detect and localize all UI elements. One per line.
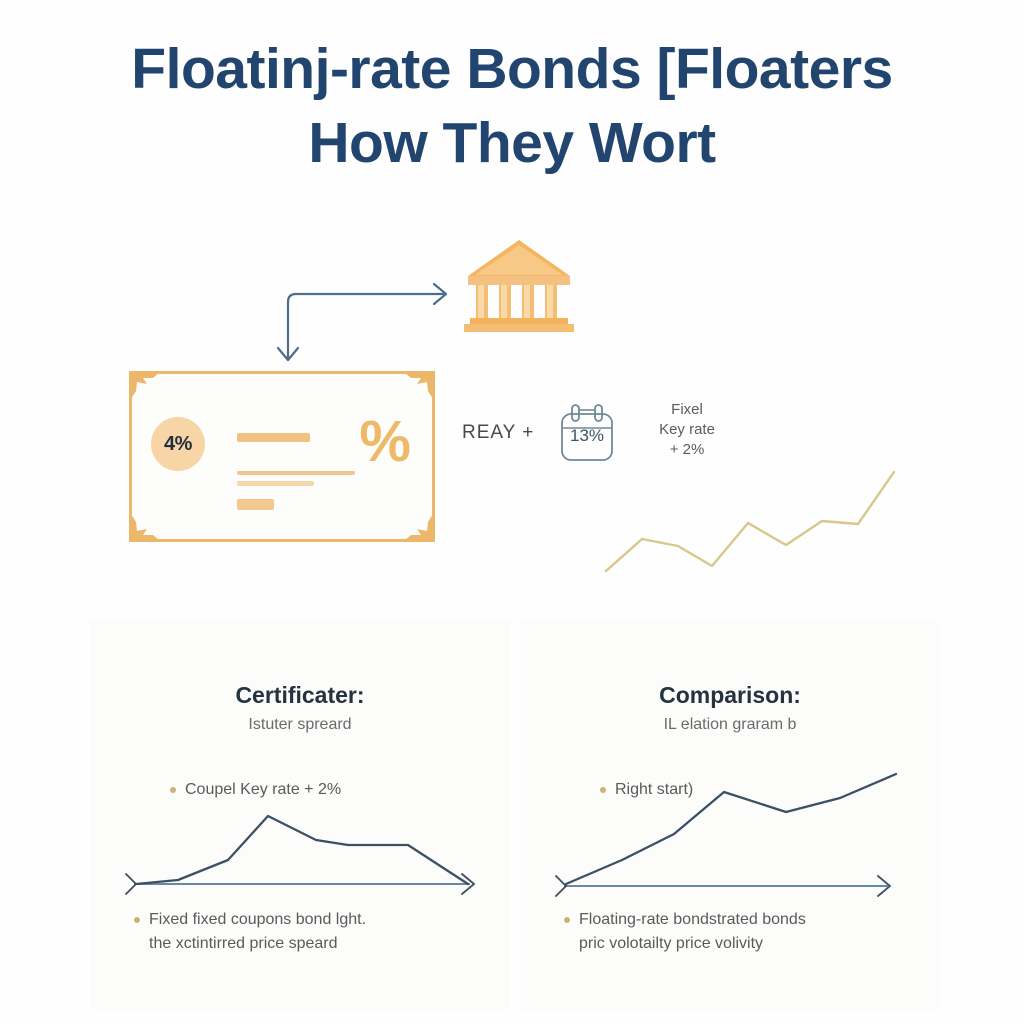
calendar-rate-value: 13% [558, 426, 616, 446]
bullet-dot-icon [134, 917, 140, 923]
bullet-dot-icon [564, 917, 570, 923]
panel-certificater: Certificater: Istuter spreard Coupel Key… [90, 620, 510, 1010]
list-item-line-1: Floating-rate bondstrated bonds [579, 911, 806, 928]
coupon-rate-badge: 4% [151, 417, 205, 471]
certificate-corner-ornament [131, 514, 159, 540]
bullet-dot-icon [170, 787, 176, 793]
certificate-corner-ornament [131, 373, 159, 399]
list-item-line-2: pric volotailty price volivity [579, 935, 763, 952]
list-item: Fixed fixed coupons bond lght. the xctin… [134, 908, 504, 956]
certificate-placeholder-line [237, 481, 314, 486]
title-line-1: Floatinj-rate Bonds [Floaters [0, 34, 1024, 104]
bank-building-icon [464, 236, 574, 332]
list-item: Floating-rate bondstrated bonds pric vol… [564, 908, 934, 956]
panel-subheading: IL elation graram b [520, 716, 940, 734]
bond-certificate-card: 4% % [129, 371, 435, 542]
list-item-label: Floating-rate bondstrated bonds pric vol… [579, 908, 806, 956]
fixed-coupon-price-chart [118, 800, 488, 905]
panel-heading: Comparison: [520, 682, 940, 709]
gold-rate-trend-chart [600, 450, 900, 585]
page-title: Floatinj-rate Bonds [Floaters How They W… [0, 34, 1024, 178]
formula-spread-line-1: Fixel [632, 400, 742, 420]
infographic-canvas: Floatinj-rate Bonds [Floaters How They W… [0, 0, 1024, 1024]
panel-subheading: Istuter spreard [90, 716, 510, 734]
panel-comparison: Comparison: IL elation graram b Right st… [520, 620, 940, 1010]
certificate-corner-ornament [405, 373, 433, 399]
formula-reference-rate-label: REAY + [462, 422, 534, 444]
floating-rate-price-chart [548, 772, 918, 907]
panel-heading: Certificater: [90, 682, 510, 709]
certificate-placeholder-line [237, 433, 310, 442]
percent-symbol-icon: % [359, 413, 411, 471]
certificate-placeholder-line [237, 471, 355, 475]
certificate-corner-ornament [405, 514, 433, 540]
formula-spread-line-2: Key rate [632, 420, 742, 440]
list-item-label: Coupel Key rate + 2% [185, 778, 341, 802]
title-line-2: How They Wort [0, 108, 1024, 178]
elbow-arrow-icon [258, 272, 458, 362]
certificate-placeholder-line [237, 499, 274, 510]
list-item: Coupel Key rate + 2% [170, 778, 500, 802]
list-item-line-2: the xctintirred price speard [149, 935, 338, 952]
list-item-line-1: Fixed fixed coupons bond lght. [149, 911, 366, 928]
list-item-label: Fixed fixed coupons bond lght. the xctin… [149, 908, 366, 956]
